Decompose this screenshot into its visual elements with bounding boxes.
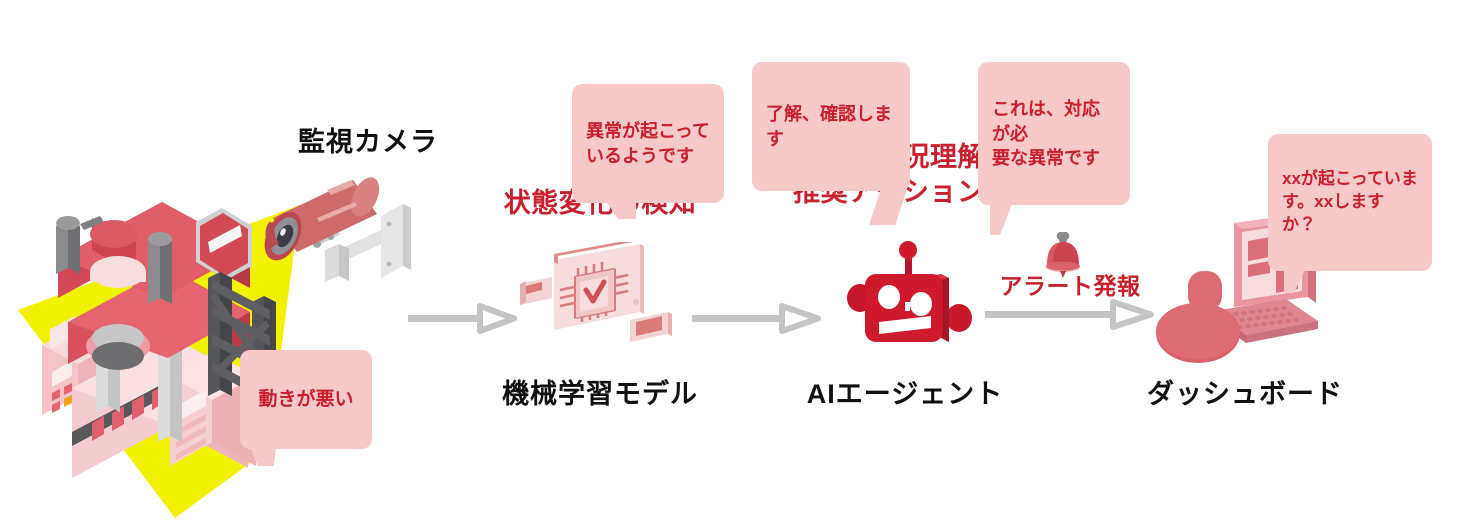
label-ml-model: 機械学習モデル (480, 372, 720, 411)
bubble-tail (606, 201, 636, 219)
security-camera-icon (243, 158, 423, 313)
bubble-action-required-text: これは、対応が必 要な異常です (992, 99, 1100, 168)
chip-checkmark-icon (512, 242, 687, 357)
bubble-tail (1284, 267, 1306, 293)
arrow-camera-to-model (408, 302, 518, 336)
bubble-anomaly-detected-text: 異常が起こって いるようです (586, 121, 710, 165)
bubble-dashboard-message-text: xxが起こっていま す。xxしますか？ (1282, 169, 1418, 234)
alert-label: アラート発報 (985, 272, 1155, 302)
robot-icon (847, 238, 975, 360)
bubble-acknowledged-text: 了解、確認します (766, 104, 892, 148)
flow-diagram: 監視カメラ 機械学習モデル AIエージェント ダッシュボード 状態変化の検知 状… (0, 0, 1462, 522)
bubble-machine-fault: 動きが悪い (240, 350, 372, 449)
arrow-agent-to-dashboard (985, 298, 1155, 332)
label-ai-agent: AIエージェント (790, 372, 1020, 411)
bubble-tail (990, 199, 1014, 235)
bubble-dashboard-message: xxが起こっていま す。xxしますか？ (1268, 134, 1432, 271)
bubble-action-required: これは、対応が必 要な異常です (978, 62, 1130, 205)
label-dashboard: ダッシュボード (1120, 372, 1370, 411)
label-camera: 監視カメラ (258, 120, 478, 159)
arrow-model-to-agent (692, 302, 822, 336)
bubble-anomaly-detected: 異常が起こって いるようです (572, 84, 724, 203)
bubble-machine-fault-text: 動きが悪い (258, 389, 353, 410)
bubble-acknowledged: 了解、確認します (752, 62, 910, 191)
